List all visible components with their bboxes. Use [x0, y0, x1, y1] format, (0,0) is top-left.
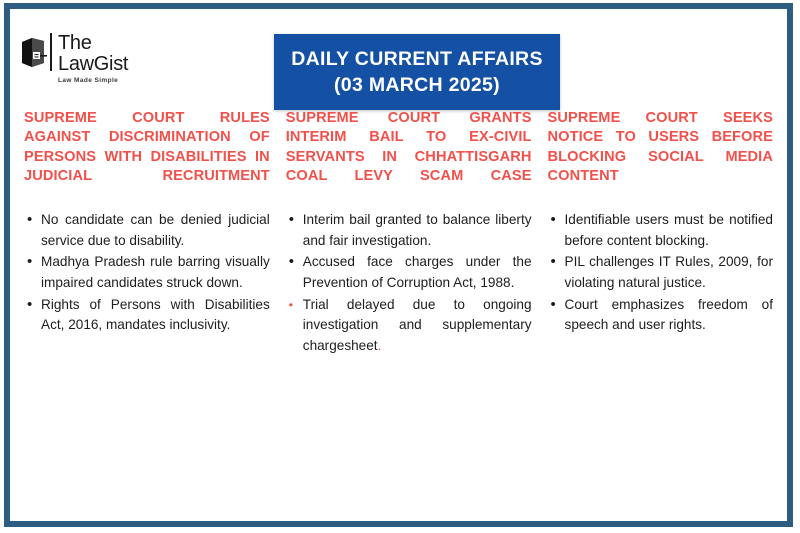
- list-item: Madhya Pradesh rule barring visually imp…: [24, 252, 270, 293]
- logo-wordmark: The LawGist Law Made Simple: [58, 33, 128, 85]
- list-item: Court emphasizes freedom of speech and u…: [548, 295, 773, 336]
- news-column-3: SUPREME COURT SEEKS NOTICE TO USERS BEFO…: [540, 109, 781, 358]
- list-item: Rights of Persons with Disabilities Act,…: [24, 295, 270, 336]
- column-1-heading: SUPREME COURT RULES AGAINST DISCRIMINATI…: [24, 109, 270, 206]
- logo-line-lawgist: LawGist: [58, 54, 128, 74]
- news-column-1: SUPREME COURT RULES AGAINST DISCRIMINATI…: [16, 109, 278, 358]
- page-frame: The LawGist Law Made Simple DAILY CURREN…: [4, 3, 793, 527]
- page-content: The LawGist Law Made Simple DAILY CURREN…: [10, 9, 787, 521]
- logo-divider: [50, 33, 52, 71]
- list-item: Trial delayed due to ongoing investigati…: [286, 295, 532, 357]
- banner-title-line-2: (03 MARCH 2025): [334, 72, 500, 98]
- list-item: Accused face charges under the Preventio…: [286, 252, 532, 293]
- list-item: Interim bail granted to balance liberty …: [286, 210, 532, 251]
- logo-tagline: Law Made Simple: [58, 78, 128, 85]
- column-3-heading: SUPREME COURT SEEKS NOTICE TO USERS BEFO…: [548, 109, 773, 206]
- list-item: PIL challenges IT Rules, 2009, for viola…: [548, 252, 773, 293]
- list-item: Identifiable users must be notified befo…: [548, 210, 773, 251]
- header: The LawGist Law Made Simple DAILY CURREN…: [10, 9, 787, 101]
- list-item: No candidate can be denied judicial serv…: [24, 210, 270, 251]
- title-banner: DAILY CURRENT AFFAIRS (03 MARCH 2025): [274, 34, 560, 110]
- red-period: .: [378, 338, 382, 353]
- brand-logo: The LawGist Law Made Simple: [18, 33, 128, 85]
- logo-line-the: The: [58, 33, 128, 53]
- column-2-bullet-list: Interim bail granted to balance liberty …: [286, 210, 532, 357]
- news-column-2: SUPREME COURT GRANTS INTERIM BAIL TO EX-…: [278, 109, 540, 358]
- banner-title-line-1: DAILY CURRENT AFFAIRS: [291, 46, 543, 72]
- column-3-bullet-list: Identifiable users must be notified befo…: [548, 210, 773, 336]
- news-columns: SUPREME COURT RULES AGAINST DISCRIMINATI…: [10, 109, 787, 358]
- list-item-text: Trial delayed due to ongoing investigati…: [303, 297, 532, 353]
- book-logo-icon: [18, 36, 48, 70]
- column-1-bullet-list: No candidate can be denied judicial serv…: [24, 210, 270, 336]
- column-2-heading: SUPREME COURT GRANTS INTERIM BAIL TO EX-…: [286, 109, 532, 206]
